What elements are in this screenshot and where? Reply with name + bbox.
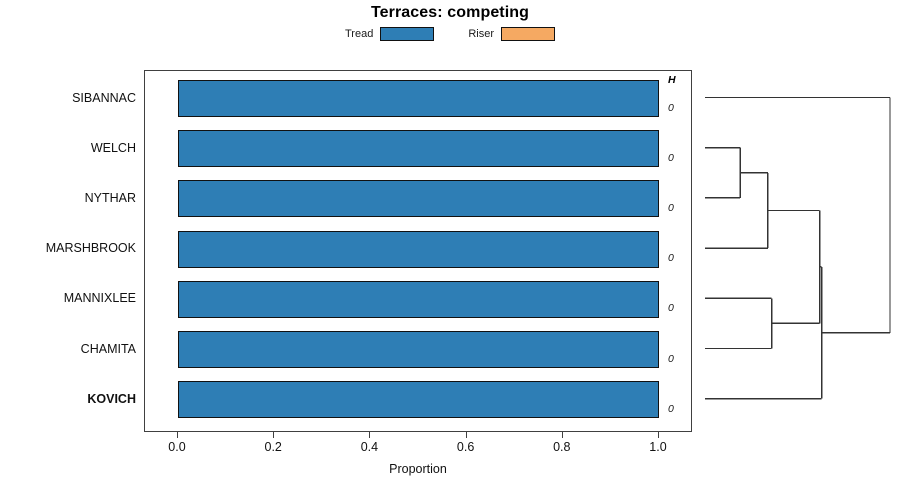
page-title: Terraces: competing <box>0 4 900 22</box>
bar-segment-tread[interactable] <box>178 231 659 268</box>
x-tick-label: 0.2 <box>264 440 281 454</box>
x-tick-mark <box>658 432 659 438</box>
row-label[interactable]: SIBANNAC <box>0 91 136 105</box>
legend: TreadRiser <box>0 27 900 41</box>
bar-row[interactable] <box>178 381 659 418</box>
row-label[interactable]: MANNIXLEE <box>0 291 136 305</box>
h-column-header: H <box>668 74 676 86</box>
bar-segment-tread[interactable] <box>178 130 659 167</box>
bar-segment-tread[interactable] <box>178 381 659 418</box>
legend-riser[interactable]: Riser <box>468 27 555 41</box>
h-value: 0 <box>668 353 674 365</box>
x-tick-label: 0.6 <box>457 440 474 454</box>
x-tick-mark <box>369 432 370 438</box>
legend-label: Riser <box>468 28 494 40</box>
legend-label: Tread <box>345 28 373 40</box>
bar-row[interactable] <box>178 80 659 117</box>
row-label[interactable]: WELCH <box>0 141 136 155</box>
bar-row[interactable] <box>178 281 659 318</box>
h-value: 0 <box>668 302 674 314</box>
h-value: 0 <box>668 403 674 415</box>
bar-segment-tread[interactable] <box>178 180 659 217</box>
h-column: H0000000 <box>660 70 694 432</box>
row-label[interactable]: CHAMITA <box>0 342 136 356</box>
row-label[interactable]: KOVICH <box>0 392 136 406</box>
legend-tread[interactable]: Tread <box>345 27 434 41</box>
dendrogram-panel <box>692 70 900 432</box>
h-value: 0 <box>668 252 674 264</box>
x-tick-label: 0.8 <box>553 440 570 454</box>
row-label[interactable]: NYTHAR <box>0 191 136 205</box>
x-tick-mark <box>177 432 178 438</box>
x-axis-title: Proportion <box>144 462 692 476</box>
bar-plot-panel <box>144 70 692 432</box>
x-tick-mark <box>273 432 274 438</box>
row-label[interactable]: MARSHBROOK <box>0 241 136 255</box>
bar-segment-tread[interactable] <box>178 331 659 368</box>
legend-swatch-tread <box>380 27 434 41</box>
x-tick-label: 0.4 <box>361 440 378 454</box>
x-tick-mark <box>562 432 563 438</box>
x-tick-label: 1.0 <box>649 440 666 454</box>
h-value: 0 <box>668 202 674 214</box>
bar-row[interactable] <box>178 180 659 217</box>
row-label-column: SIBANNACWELCHNYTHARMARSHBROOKMANNIXLEECH… <box>0 70 140 432</box>
bar-row[interactable] <box>178 331 659 368</box>
x-tick-label: 0.0 <box>168 440 185 454</box>
legend-swatch-riser <box>501 27 555 41</box>
dendrogram-svg <box>692 70 900 432</box>
bar-segment-tread[interactable] <box>178 281 659 318</box>
bar-segment-tread[interactable] <box>178 80 659 117</box>
bar-row[interactable] <box>178 130 659 167</box>
x-tick-mark <box>466 432 467 438</box>
h-value: 0 <box>668 102 674 114</box>
h-value: 0 <box>668 152 674 164</box>
bar-row[interactable] <box>178 231 659 268</box>
